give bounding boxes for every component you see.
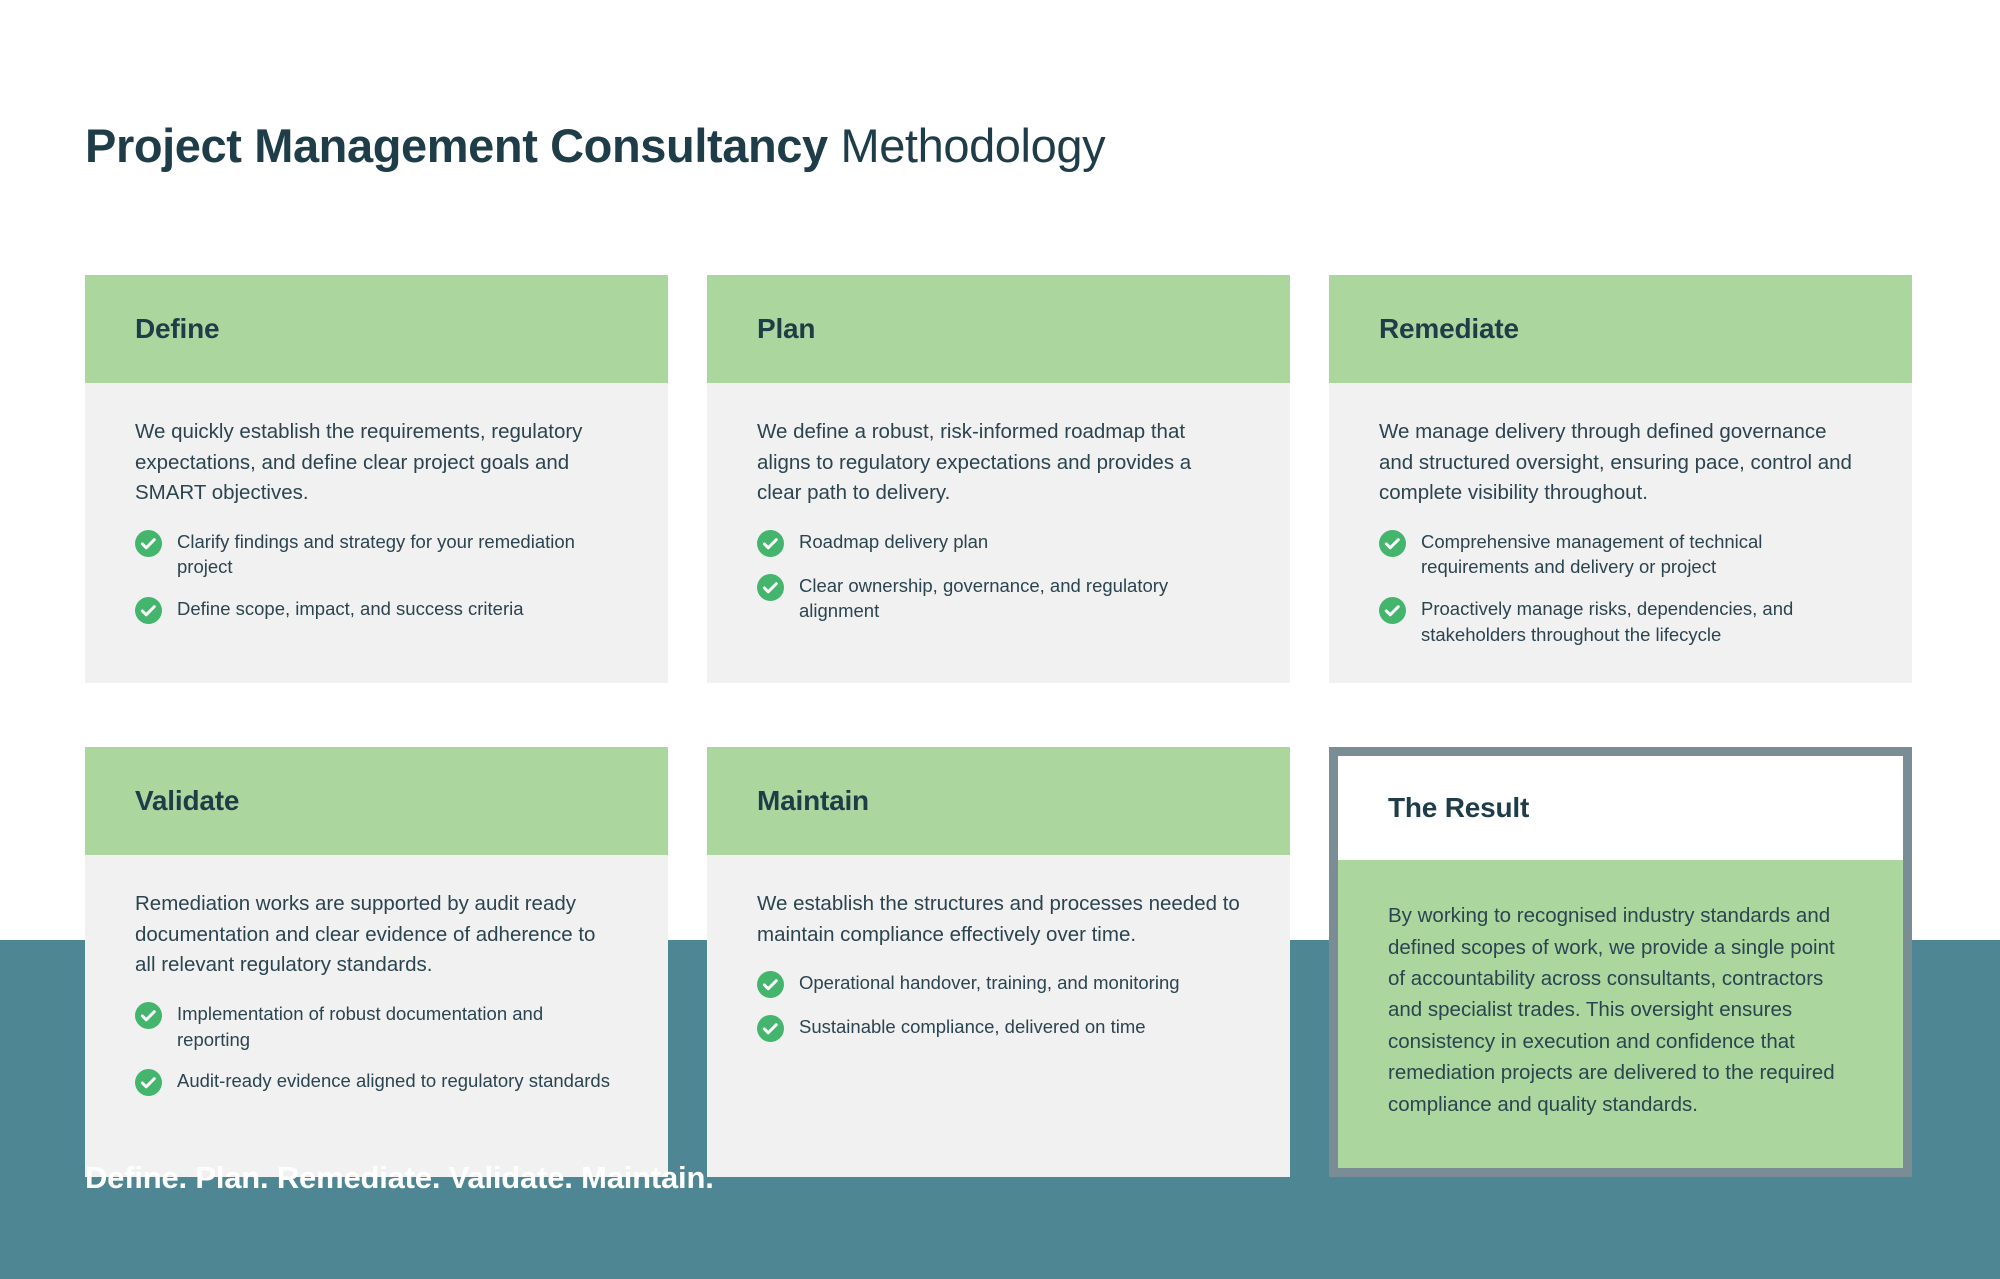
- card-remediate-body: We manage delivery through defined gover…: [1329, 383, 1912, 683]
- bullet-text: Proactively manage risks, dependencies, …: [1421, 596, 1862, 647]
- card-validate-title: Validate: [135, 785, 239, 817]
- footer-strapline: Define. Plan. Remediate. Validate. Maint…: [85, 1160, 714, 1196]
- check-circle-icon: [757, 574, 784, 601]
- bullet-text: Roadmap delivery plan: [799, 529, 988, 555]
- check-circle-icon: [135, 1002, 162, 1029]
- bullet-text: Clarify findings and strategy for your r…: [177, 529, 618, 580]
- card-maintain-body: We establish the structures and processe…: [707, 855, 1290, 1078]
- card-plan-bullets: Roadmap delivery plan Clear ownership, g…: [757, 529, 1240, 624]
- bullet-text: Implementation of robust documentation a…: [177, 1001, 618, 1052]
- check-circle-icon: [757, 530, 784, 557]
- check-circle-icon: [135, 597, 162, 624]
- card-plan-body: We define a robust, risk-informed roadma…: [707, 383, 1290, 660]
- card-the-result-header: The Result: [1338, 756, 1903, 860]
- card-validate-header: Validate: [85, 747, 668, 855]
- card-remediate-bullets: Comprehensive management of technical re…: [1379, 529, 1862, 648]
- card-plan-lede: We define a robust, risk-informed roadma…: [757, 417, 1240, 509]
- card-validate-body: Remediation works are supported by audit…: [85, 855, 668, 1132]
- card-define-lede: We quickly establish the requirements, r…: [135, 417, 618, 509]
- bullet-text: Sustainable compliance, delivered on tim…: [799, 1014, 1146, 1040]
- list-item: Clarify findings and strategy for your r…: [135, 529, 618, 580]
- list-item: Comprehensive management of technical re…: [1379, 529, 1862, 580]
- list-item: Implementation of robust documentation a…: [135, 1001, 618, 1052]
- card-define-body: We quickly establish the requirements, r…: [85, 383, 668, 660]
- card-remediate-title: Remediate: [1379, 313, 1519, 345]
- methodology-card-grid: Define We quickly establish the requirem…: [85, 275, 1915, 1177]
- check-circle-icon: [1379, 530, 1406, 557]
- card-define-bullets: Clarify findings and strategy for your r…: [135, 529, 618, 624]
- bullet-text: Operational handover, training, and moni…: [799, 970, 1180, 996]
- card-the-result[interactable]: The Result By working to recognised indu…: [1329, 747, 1912, 1177]
- card-plan[interactable]: Plan We define a robust, risk-informed r…: [707, 275, 1290, 683]
- page-title: Project Management Consultancy Methodolo…: [85, 120, 1105, 172]
- list-item: Define scope, impact, and success criter…: [135, 596, 618, 624]
- card-the-result-text: By working to recognised industry standa…: [1388, 900, 1853, 1120]
- card-validate-bullets: Implementation of robust documentation a…: [135, 1001, 618, 1096]
- list-item: Sustainable compliance, delivered on tim…: [757, 1014, 1240, 1042]
- list-item: Audit-ready evidence aligned to regulato…: [135, 1068, 618, 1096]
- list-item: Operational handover, training, and moni…: [757, 970, 1240, 998]
- card-plan-header: Plan: [707, 275, 1290, 383]
- list-item: Clear ownership, governance, and regulat…: [757, 573, 1240, 624]
- card-the-result-title: The Result: [1388, 792, 1529, 824]
- check-circle-icon: [135, 1069, 162, 1096]
- card-maintain-header: Maintain: [707, 747, 1290, 855]
- bullet-text: Clear ownership, governance, and regulat…: [799, 573, 1240, 624]
- list-item: Proactively manage risks, dependencies, …: [1379, 596, 1862, 647]
- card-row-1: Define We quickly establish the requirem…: [85, 275, 1915, 683]
- card-remediate-lede: We manage delivery through defined gover…: [1379, 417, 1862, 509]
- bullet-text: Define scope, impact, and success criter…: [177, 596, 524, 622]
- card-the-result-body: By working to recognised industry standa…: [1338, 860, 1903, 1168]
- list-item: Roadmap delivery plan: [757, 529, 1240, 557]
- card-maintain[interactable]: Maintain We establish the structures and…: [707, 747, 1290, 1177]
- bullet-text: Audit-ready evidence aligned to regulato…: [177, 1068, 610, 1094]
- check-circle-icon: [757, 971, 784, 998]
- card-define[interactable]: Define We quickly establish the requirem…: [85, 275, 668, 683]
- card-define-title: Define: [135, 313, 219, 345]
- card-validate[interactable]: Validate Remediation works are supported…: [85, 747, 668, 1177]
- card-plan-title: Plan: [757, 313, 815, 345]
- card-maintain-lede: We establish the structures and processe…: [757, 889, 1240, 950]
- page-title-light: Methodology: [828, 119, 1105, 172]
- card-maintain-bullets: Operational handover, training, and moni…: [757, 970, 1240, 1042]
- card-maintain-title: Maintain: [757, 785, 869, 817]
- card-row-2: Validate Remediation works are supported…: [85, 747, 1915, 1177]
- card-remediate-header: Remediate: [1329, 275, 1912, 383]
- check-circle-icon: [757, 1015, 784, 1042]
- bullet-text: Comprehensive management of technical re…: [1421, 529, 1862, 580]
- card-validate-lede: Remediation works are supported by audit…: [135, 889, 618, 981]
- card-define-header: Define: [85, 275, 668, 383]
- page-title-strong: Project Management Consultancy: [85, 119, 828, 172]
- card-remediate[interactable]: Remediate We manage delivery through def…: [1329, 275, 1912, 683]
- check-circle-icon: [135, 530, 162, 557]
- check-circle-icon: [1379, 597, 1406, 624]
